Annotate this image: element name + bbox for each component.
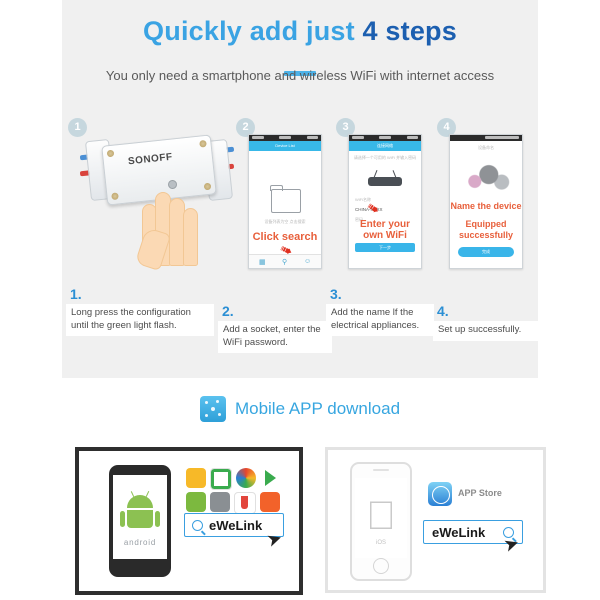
next-button-label: 下一步 — [355, 243, 415, 252]
router-icon — [368, 177, 402, 186]
empty-list-caption: 设备列表为空 点击搜索 — [249, 219, 321, 225]
phone-tab-bar: ▦ ⚲ ☺ — [249, 254, 321, 268]
step-2-description: Add a socket, enter the WiFi password. — [218, 321, 332, 353]
android-wordmark: android — [113, 538, 167, 547]
apple-logo-icon:  — [366, 496, 396, 536]
step-4-description: Set up successfully. — [433, 321, 539, 341]
page-title: Quickly add just 4 steps — [62, 16, 538, 47]
finger-little — [183, 208, 198, 266]
android-store-icons — [184, 467, 284, 515]
iphone-speaker — [373, 469, 389, 471]
page-subtitle: You only need a smartphone and wireless … — [62, 68, 538, 83]
screw-tr — [199, 140, 207, 148]
step-3-number: 3. — [330, 286, 342, 302]
appchina-icon[interactable] — [210, 492, 230, 512]
google-play-icon[interactable] — [260, 468, 280, 488]
step-1-number: 1. — [70, 286, 82, 302]
iphone-screen:  iOS — [355, 478, 407, 558]
iphone-mock:  iOS — [350, 462, 412, 581]
step-1-media: 1 SONOFF — [68, 118, 228, 268]
finish-button-label: 完成 — [458, 247, 514, 257]
empty-folder-icon — [271, 189, 301, 213]
step-2-number: 2. — [222, 303, 234, 319]
appstore-icon[interactable] — [428, 482, 452, 506]
step-2-media: 2 Device List 设备列表为空 点击搜索 Click search ➠… — [236, 118, 331, 268]
iphone-home-button[interactable] — [373, 558, 389, 574]
step-3-media: 3 连接网络 请选择一个可用的 WiFi 并输入密码 WiFi名称 CHINA-… — [336, 118, 431, 268]
phone-device-list: Device List 设备列表为空 点击搜索 Click search ➠ ▦… — [248, 134, 322, 269]
app-download-header: Mobile APP download — [0, 396, 600, 422]
user-icon[interactable]: ☺ — [304, 258, 311, 265]
pointing-hand-icon — [140, 180, 202, 268]
phone-status-bar — [450, 135, 522, 141]
screw-tl — [107, 150, 115, 158]
android-search-value: eWeLink — [209, 518, 262, 533]
name-device-callout: Name the device — [450, 201, 522, 211]
phone-name-device: 设备命名 Name the device Equipped successful… — [449, 134, 523, 269]
success-line2: successfully — [450, 230, 522, 241]
wifi-callout-line2: own WiFi — [349, 230, 421, 241]
phone-nav-title: Device List — [249, 141, 321, 151]
taobao-store-icon[interactable] — [234, 492, 256, 514]
step-4-media: 4 设备命名 Name the device Equipped successf… — [437, 118, 532, 268]
next-button[interactable]: 下一步 — [355, 243, 415, 252]
appliances-illustration — [458, 161, 514, 195]
app-download-title: Mobile APP download — [235, 399, 400, 419]
android-phone-mock: android — [109, 465, 171, 577]
step-4-number: 4. — [437, 303, 449, 319]
screw-bl — [111, 192, 119, 200]
page-root: Quickly add just 4 steps You only need a… — [0, 0, 600, 600]
screw-br — [204, 183, 212, 191]
phone-nav-title: 设备命名 — [450, 145, 522, 151]
page-title-dark: 4 steps — [363, 16, 457, 46]
step-1-badge: 1 — [68, 118, 87, 137]
grid-icon[interactable]: ▦ — [259, 258, 266, 266]
mm-store-icon[interactable] — [260, 492, 280, 512]
anzhi-store-icon[interactable] — [186, 492, 206, 512]
ios-download-card:  iOS APP Store eWeLink ➤ — [325, 447, 546, 593]
wifi-callout-line1: Enter your — [349, 219, 421, 230]
ios-search-value: eWeLink — [432, 525, 485, 540]
android-phone-screen: android — [113, 475, 167, 559]
phone-nav-title: 连接网络 — [349, 141, 421, 151]
search-icon — [192, 520, 203, 531]
360-store-icon[interactable] — [210, 468, 232, 490]
appstore-label: APP Store — [458, 488, 502, 498]
android-download-card: android eWeLink ➤ — [75, 447, 303, 595]
search-icon[interactable]: ⚲ — [282, 258, 287, 266]
step-1-description: Long press the configuration until the g… — [66, 304, 214, 336]
wandoujia-icon[interactable] — [186, 468, 206, 488]
ios-wordmark: iOS — [355, 540, 407, 546]
finish-button[interactable]: 完成 — [458, 247, 514, 257]
phone-wifi-select: 连接网络 请选择一个可用的 WiFi 并输入密码 WiFi名称 CHINA-XX… — [348, 134, 422, 269]
step-3-description: Add the name lf the electrical appliance… — [326, 304, 434, 336]
android-robot-icon — [127, 495, 153, 528]
page-title-light: Quickly add just — [143, 16, 362, 46]
success-line1: Equipped — [450, 219, 522, 230]
network-app-icon — [200, 396, 226, 422]
wifi-hint: 请选择一个可用的 WiFi 并输入密码 — [349, 155, 421, 161]
baidu-store-icon[interactable] — [236, 468, 256, 488]
